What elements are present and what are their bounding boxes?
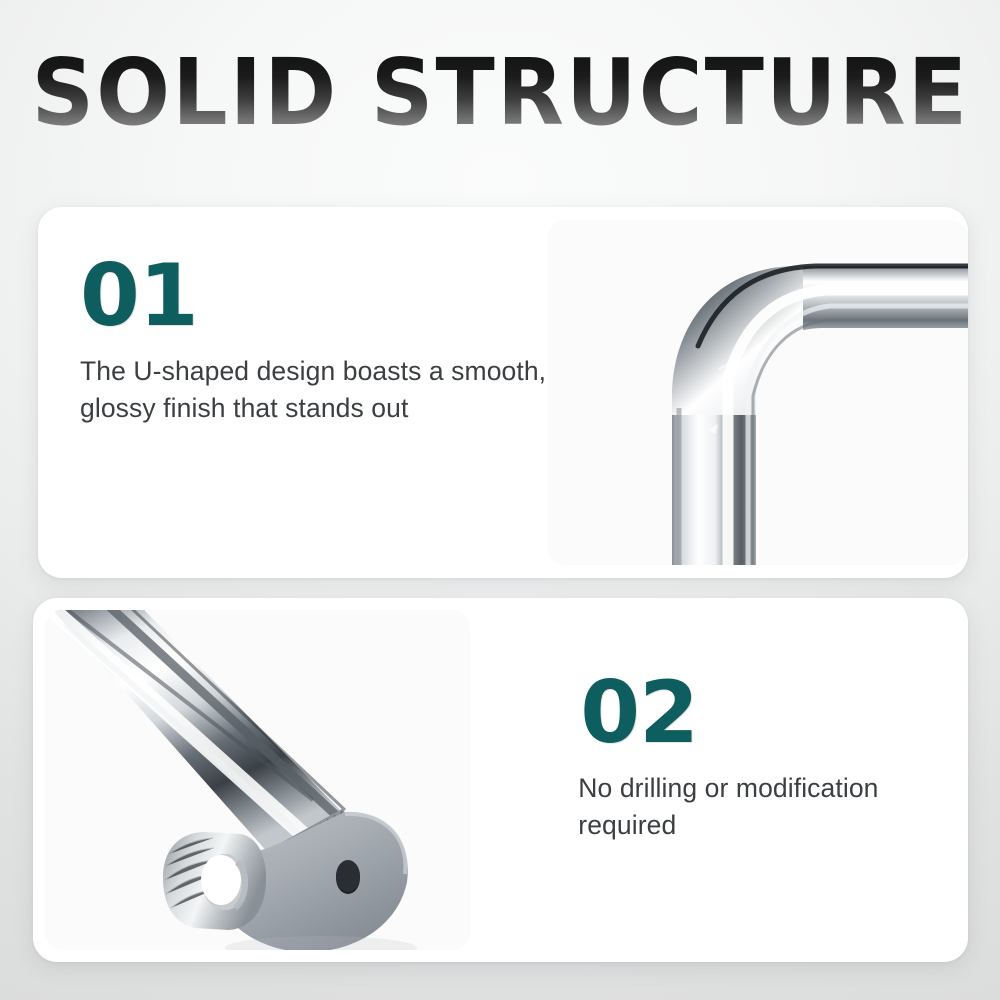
product-photo-u-bend <box>548 220 968 565</box>
product-photo-mounting-flange <box>45 610 470 950</box>
page-title: SOLID STRUCTURE <box>31 50 969 137</box>
feature-card-02-text: 02 No drilling or modification required <box>500 598 968 962</box>
product-feature-page: SOLID STRUCTURE 01 The U-shaped design b… <box>0 0 1000 1000</box>
feature-description-01: The U-shaped design boasts a smooth, glo… <box>80 353 548 427</box>
chrome-flange-illustration <box>45 610 470 950</box>
feature-card-02: 02 No drilling or modification required <box>33 598 968 962</box>
feature-description-02: No drilling or modification required <box>578 770 968 844</box>
chrome-u-bend-illustration <box>548 220 968 565</box>
feature-card-01-text: 01 The U-shaped design boasts a smooth, … <box>38 207 548 578</box>
feature-number-02: 02 <box>580 670 968 756</box>
feature-number-01: 01 <box>80 253 548 339</box>
page-title-container: SOLID STRUCTURE <box>0 46 1000 142</box>
feature-card-01: 01 The U-shaped design boasts a smooth, … <box>38 207 968 578</box>
